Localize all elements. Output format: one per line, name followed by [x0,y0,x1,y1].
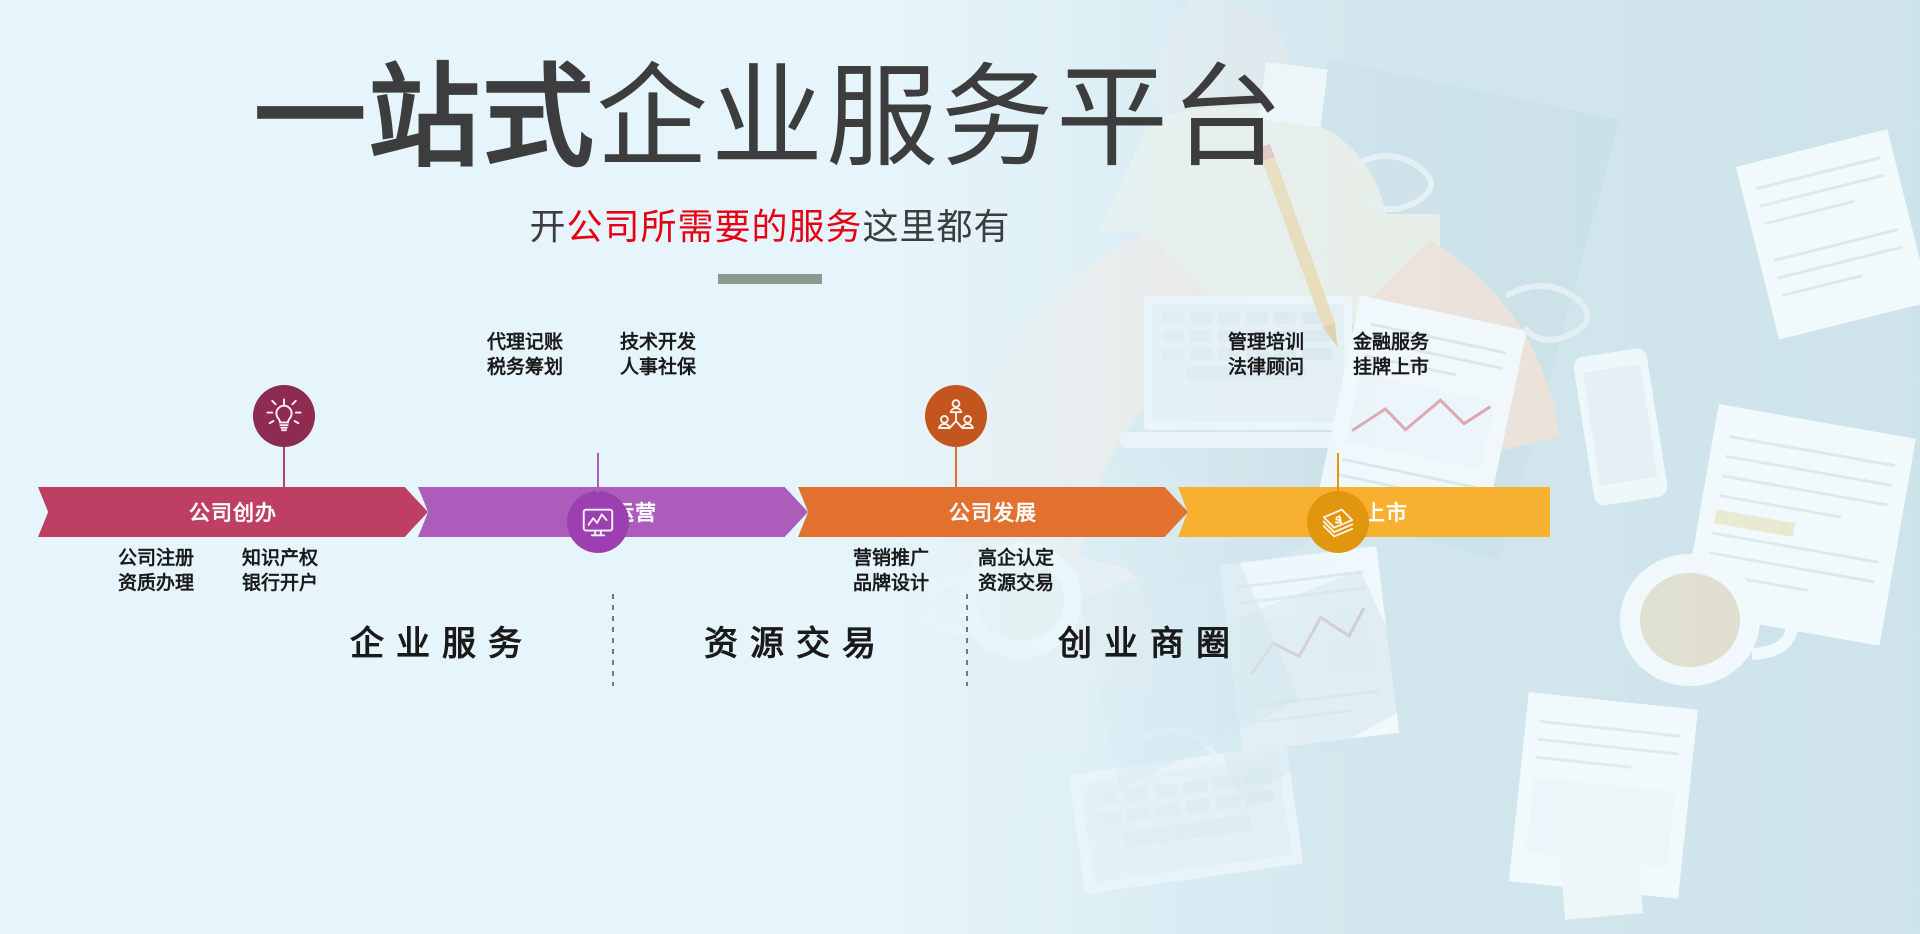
stage-stem-4 [1337,453,1339,493]
category-row: 企业服务 资源交易 创业商圈 [260,580,1320,700]
stage-node-4[interactable] [1307,453,1369,553]
stage-2-service-a-line2: 税务筹划 [487,355,563,380]
stage-icon-circle-4 [1307,491,1369,553]
category-item-2[interactable]: 资源交易 [614,616,966,665]
stage-2-service-a: 代理记账 税务筹划 [487,330,563,380]
people-network-icon [936,396,976,436]
stage-node-2[interactable] [567,453,629,553]
stage-4-service-b: 金融服务 挂牌上市 [1353,330,1429,380]
stage-3-service-b-line1: 高企认定 [978,546,1054,571]
stage-2-service-a-line1: 代理记账 [487,330,563,355]
stage-stem-2 [597,453,599,493]
stage-1-service-b-line1: 知识产权 [242,546,318,571]
stage-4-service-b-line1: 金融服务 [1353,330,1429,355]
stage-label-1: 公司创办 [189,497,277,527]
stage-stem-1 [283,447,285,489]
stage-chevron-1[interactable]: 公司创办 [38,487,428,537]
stage-stem-3 [955,447,957,489]
stage-4-service-a-line1: 管理培训 [1228,330,1304,355]
stage-2-service-b: 技术开发 人事社保 [620,330,696,380]
category-item-3[interactable]: 创业商圈 [968,616,1320,665]
stage-3-service-a-line1: 营销推广 [853,546,929,571]
stage-1-service-a: 公司注册 资质办理 [118,546,194,596]
stage-1-service-a-line1: 公司注册 [118,546,194,571]
stage-chevron-3[interactable]: 公司发展 [798,487,1188,537]
stage-node-3[interactable] [925,385,987,447]
stage-icon-circle-2 [567,491,629,553]
stage-node-1[interactable] [253,385,315,447]
stage-4-service-a: 管理培训 法律顾问 [1228,330,1304,380]
category-item-1[interactable]: 企业服务 [260,616,612,665]
stage-1-service-a-line2: 资质办理 [118,571,194,596]
timeline-diagram: 公司创办 公司运营 公司发展 公司上市 [0,0,1920,934]
stage-label-3: 公司发展 [949,497,1037,527]
monitor-chart-icon [579,503,617,541]
stage-2-service-b-line2: 人事社保 [620,355,696,380]
stage-2-service-b-line1: 技术开发 [620,330,696,355]
stage-icon-circle-1 [253,385,315,447]
lightbulb-icon [264,396,304,436]
stage-icon-circle-3 [925,385,987,447]
stage-4-service-b-line2: 挂牌上市 [1353,355,1429,380]
stage-4-service-a-line2: 法律顾问 [1228,355,1304,380]
cash-stack-icon [1319,503,1357,541]
